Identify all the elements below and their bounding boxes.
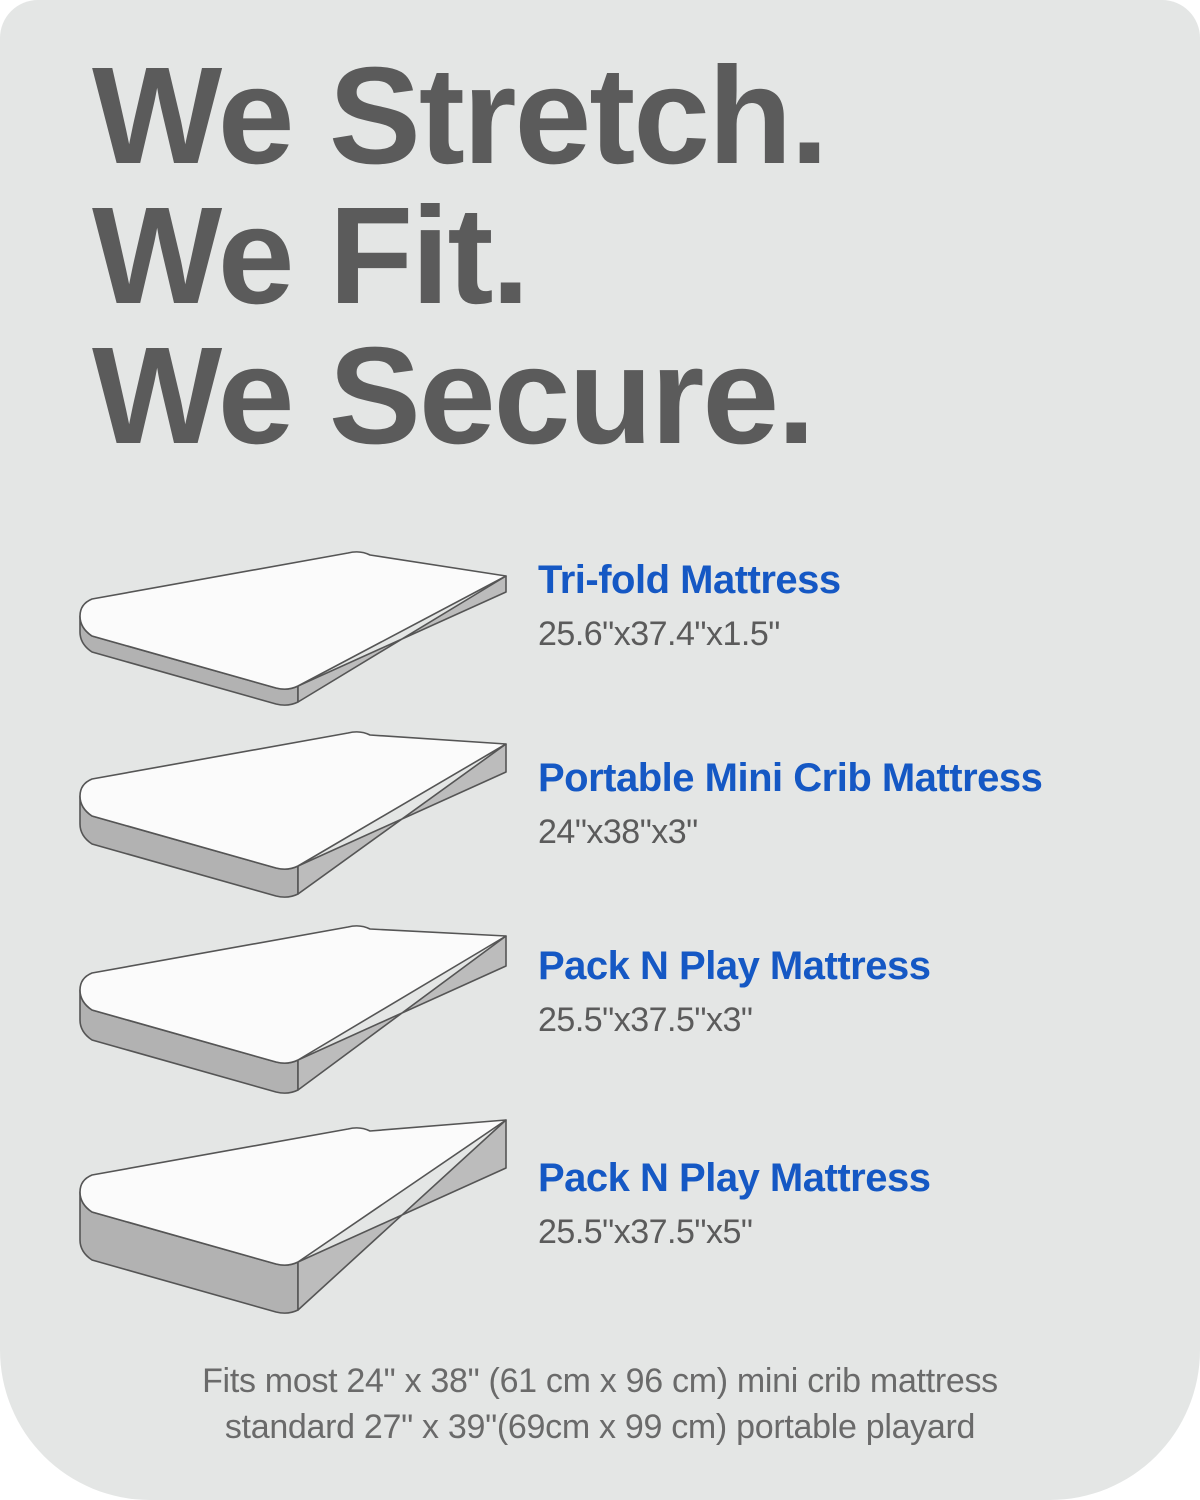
headline-line-2: We Fit. (92, 186, 1112, 326)
product-copy: Tri-fold Mattress 25.6"x37.4"x1.5" (538, 556, 1188, 654)
compatibility-note-line-2: standard 27" x 39"(69cm x 99 cm) portabl… (0, 1404, 1200, 1450)
compatibility-note: Fits most 24" x 38" (61 cm x 96 cm) mini… (0, 1358, 1200, 1450)
product-copy: Pack N Play Mattress 25.5"x37.5"x3" (538, 942, 1188, 1040)
product-title: Portable Mini Crib Mattress (538, 754, 1188, 802)
infographic-panel: We Stretch. We Fit. We Secure. (0, 0, 1200, 1500)
product-title: Tri-fold Mattress (538, 556, 1188, 604)
compatibility-note-line-1: Fits most 24" x 38" (61 cm x 96 cm) mini… (0, 1358, 1200, 1404)
product-row: Tri-fold Mattress 25.6"x37.4"x1.5" (0, 522, 1200, 718)
headline-line-1: We Stretch. (92, 46, 1112, 186)
product-row: Portable Mini Crib Mattress 24"x38"x3" (0, 718, 1200, 914)
product-row: Pack N Play Mattress 25.5"x37.5"x3" (0, 914, 1200, 1110)
mattress-illustration-mini-crib (62, 728, 522, 924)
product-dimensions: 25.6"x37.4"x1.5" (538, 614, 1188, 654)
product-dimensions: 25.5"x37.5"x5" (538, 1212, 1188, 1252)
mattress-illustration-pack-n-play-5in (62, 1100, 522, 1296)
mattress-illustration-trifold (62, 544, 522, 740)
product-dimensions: 25.5"x37.5"x3" (538, 1000, 1188, 1040)
product-copy: Pack N Play Mattress 25.5"x37.5"x5" (538, 1154, 1188, 1252)
headline-line-3: We Secure. (92, 326, 1112, 466)
product-dimensions: 24"x38"x3" (538, 812, 1188, 852)
headline-block: We Stretch. We Fit. We Secure. (92, 46, 1112, 466)
mattress-illustration-pack-n-play-3in (62, 914, 522, 1110)
product-row: Pack N Play Mattress 25.5"x37.5"x5" (0, 1110, 1200, 1306)
product-copy: Portable Mini Crib Mattress 24"x38"x3" (538, 754, 1188, 852)
product-title: Pack N Play Mattress (538, 1154, 1188, 1202)
product-title: Pack N Play Mattress (538, 942, 1188, 990)
product-list: Tri-fold Mattress 25.6"x37.4"x1.5" Porta… (0, 522, 1200, 1306)
